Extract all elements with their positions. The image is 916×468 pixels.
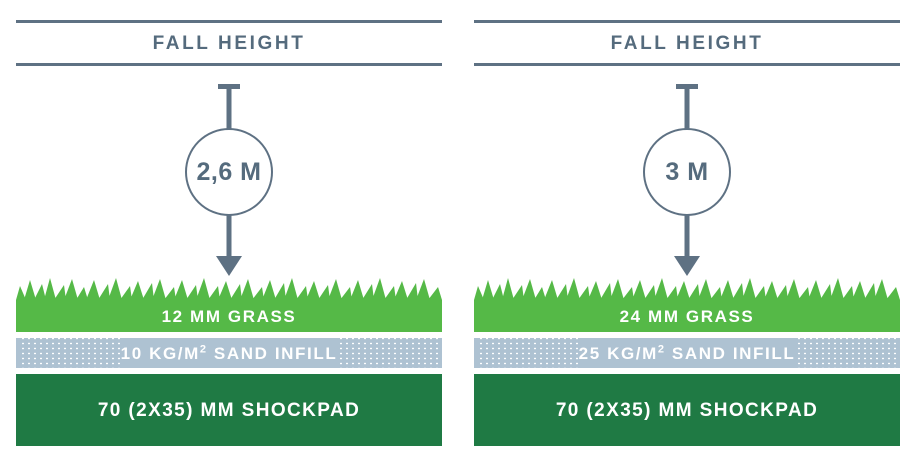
panel-left-layer-grass: 12 MM GRASS [16,300,442,332]
measure-stem-upper-icon [227,88,232,132]
panel-right-layer-grass: 24 MM GRASS [474,300,900,332]
grass-blades-icon [16,278,442,300]
panel-right-layer-sand-label: 25 KG/M2 SAND INFILL [579,345,796,362]
panel-right-layer-grass-label: 24 MM GRASS [620,308,755,325]
sand-label-post: SAND INFILL [666,344,796,363]
panel-right-layer-stack: 24 MM GRASS 25 KG/M2 SAND INFILL 70 (2X3… [474,278,900,446]
panel-left-layer-grass-label: 12 MM GRASS [162,308,297,325]
panel-right-fall-height-indicator: 3 M [458,84,916,276]
panel-right-fall-height-badge: 3 M [643,128,731,216]
panel-left-layer-sand: 10 KG/M2 SAND INFILL [16,338,442,368]
grass-blades-icon [474,278,900,300]
panel-left-layer-stack: 12 MM GRASS 10 KG/M2 SAND INFILL 70 (2X3… [16,278,442,446]
panel-right-header-title: FALL HEIGHT [611,34,764,53]
fall-height-comparison-diagram: FALL HEIGHT 2,6 M [0,0,916,468]
panel-left-header: FALL HEIGHT [16,20,442,66]
panel-left: FALL HEIGHT 2,6 M [0,0,458,468]
panel-left-fall-height-value: 2,6 M [196,160,261,185]
panel-left-header-title: FALL HEIGHT [153,34,306,53]
panel-right-layer-sand: 25 KG/M2 SAND INFILL [474,338,900,368]
panel-right-fall-height-value: 3 M [665,160,708,185]
panel-right-layer-shockpad-label: 70 (2X35) MM SHOCKPAD [556,401,818,420]
sand-texture-left-icon [478,338,578,368]
panel-left-layer-shockpad: 70 (2X35) MM SHOCKPAD [16,374,442,446]
arrow-down-icon [674,256,700,276]
panel-left-layer-sand-label: 10 KG/M2 SAND INFILL [121,345,338,362]
sand-label-pre: 10 KG/M [121,344,200,363]
measure-stem-lower-icon [685,214,690,258]
panel-left-fall-height-indicator: 2,6 M [0,84,458,276]
sand-label-post: SAND INFILL [208,344,338,363]
measure-stem-upper-icon [685,88,690,132]
sand-texture-left-icon [20,338,120,368]
sand-label-superscript: 2 [658,343,666,355]
sand-texture-right-icon [796,338,896,368]
panel-right-layer-shockpad: 70 (2X35) MM SHOCKPAD [474,374,900,446]
measure-stem-lower-icon [227,214,232,258]
panel-left-layer-shockpad-label: 70 (2X35) MM SHOCKPAD [98,401,360,420]
panel-right: FALL HEIGHT 3 M [458,0,916,468]
arrow-down-icon [216,256,242,276]
sand-texture-right-icon [338,338,438,368]
sand-label-pre: 25 KG/M [579,344,658,363]
panel-right-header: FALL HEIGHT [474,20,900,66]
sand-label-superscript: 2 [200,343,208,355]
panel-left-fall-height-badge: 2,6 M [185,128,273,216]
